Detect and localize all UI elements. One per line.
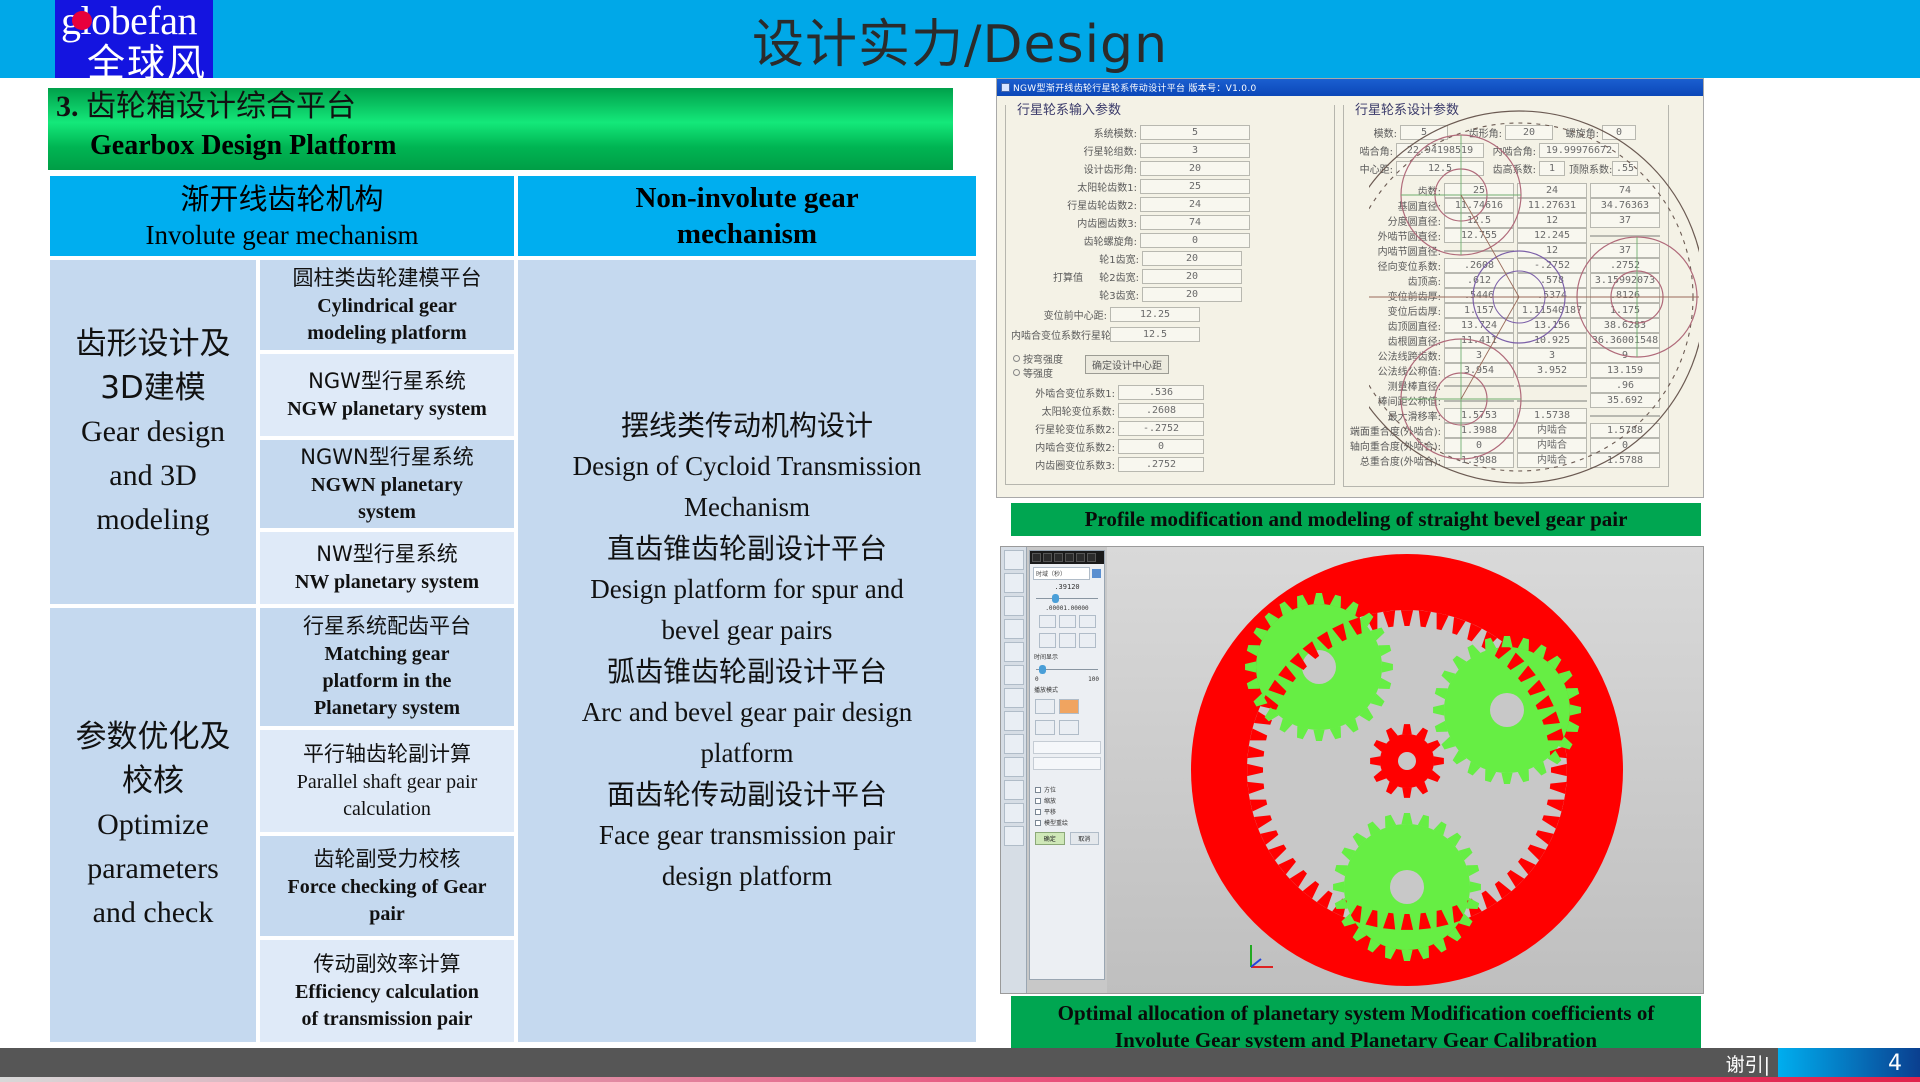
param-label: 设计齿形角: [1037,161,1137,176]
tool-analysis-icon[interactable] [1004,803,1024,823]
cad-panel-header[interactable] [1030,551,1104,564]
matrix-header-noninvolute: Non-involute gear mechanism [516,174,978,258]
noninvolute-line-5: bevel gear pairs [662,610,833,651]
radio-label: 等强度 [1023,365,1053,380]
cad-checkbox-zoom[interactable]: 缩放 [1030,795,1104,806]
param-label: 内啮合变位系数行星轮: [1011,327,1107,342]
item2-cn: NGWN型行星系统 [300,443,473,472]
param-value: -.2752 [1118,421,1204,436]
group1-cn-line1: 齿形设计及 [76,322,231,366]
pan-icon[interactable] [1079,633,1096,648]
reverse-icon[interactable] [1059,720,1079,735]
param-value: .2752 [1118,457,1204,472]
group2-cn-line1: 参数优化及 [76,715,231,759]
matrix-item-ngw[interactable]: NGW型行星系统 NGW planetary system [258,352,516,438]
matrix-item-efficiency[interactable]: 传动副效率计算 Efficiency calculation of transm… [258,938,516,1044]
param-value: 0 [1140,233,1250,248]
param-value: 12.5 [1110,327,1200,342]
coordinate-axis-icon [1247,941,1277,971]
caption2-line1: Optimal allocation of planetary system M… [1058,1000,1655,1027]
tool-select-icon[interactable] [1004,550,1024,570]
matrix-header-involute-cn: 渐开线齿轮机构 [180,180,383,218]
logo-red-dot-icon [72,11,92,30]
checkbox-label: 方位 [1044,785,1056,794]
param-row[interactable]: 行星轮变位系数2: -.2752 [1011,421,1204,436]
group1-cn-line2: 3D建模 [100,366,206,410]
param-label: 轮3齿宽: [1077,287,1139,302]
group2-en-line2: parameters [87,847,219,891]
matrix-noninvolute-body: 摆线类传动机构设计 Design of Cycloid Transmission… [516,258,978,1044]
planetary-gear-cad-drawing [1369,99,1699,495]
matrix-item-cylindrical-gear[interactable]: 圆柱类齿轮建模平台 Cylindrical gear modeling plat… [258,258,516,352]
section-title-en: Gearbox Design Platform [56,126,953,166]
item4-cn: 行星系统配齿平台 [303,612,471,641]
slide-footer: 谢引| 4 [0,1040,1920,1082]
footer-accent-bar [0,1077,1920,1082]
tool-assembly-icon[interactable] [1004,757,1024,777]
param-value: .2608 [1118,403,1204,418]
group2-cn-line2: 校核 [122,759,184,803]
item5-cn: 平行轴齿轮副计算 [303,740,471,769]
param-row[interactable]: 太阳轮变位系数: .2608 [1011,403,1204,418]
item2-en1: NGWN planetary [311,472,463,499]
param-label: 行星轮变位系数2: [1011,421,1115,436]
tool-line-icon[interactable] [1004,573,1024,593]
noninvolute-line-0: 摆线类传动机构设计 [621,405,873,446]
section-number: 3. [56,90,79,123]
param-value: 20 [1140,161,1250,176]
param-group-width-label: 打算值 [1023,269,1083,284]
cad-dialog-buttons[interactable]: 确定 取消 [1030,828,1104,849]
group1-en-line1: Gear design [81,410,225,454]
param-label: 太阳轮齿数1: [1037,179,1137,194]
param-value: .536 [1118,385,1204,400]
noninvolute-line-4: Design platform for spur and [590,569,903,610]
section-title-bar: 3. 齿轮箱设计综合平台 Gearbox Design Platform [48,88,953,170]
chevron-down-icon[interactable] [1092,569,1101,578]
window-title-text: NGW型渐开线齿轮行星轮系传动设计平台 版本号：V1.0.0 [1013,81,1257,94]
tool-extrude-icon[interactable] [1004,619,1024,639]
radio-label: 按弯强度 [1023,351,1063,366]
item6-en1: Force checking of Gear [287,874,486,901]
param-row[interactable]: 齿轮螺旋角: 0 [1037,233,1250,248]
radio-equal-strength[interactable]: 等强度 [1013,365,1053,380]
item7-cn: 传动副效率计算 [314,950,461,979]
radio-icon [1013,355,1020,362]
header-band: 设计实力/Design globefan 全球风 [0,0,1920,78]
skip-end-icon[interactable] [1079,615,1096,628]
cad-disabled-field-2 [1033,757,1101,770]
param-row[interactable]: 内啮合变位系数行星轮: 12.5 [1011,327,1200,342]
matrix-item-matching-gear[interactable]: 行星系统配齿平台 Matching gear platform in the P… [258,606,516,728]
section-heading-cn: 3. 齿轮箱设计综合平台 [56,88,953,126]
item0-cn: 圆柱类齿轮建模平台 [293,264,482,293]
cad-checkbox-redraw[interactable]: 模型重绘 [1030,817,1104,828]
item6-en2: pair [369,901,405,928]
matrix-header-noninvolute-line2: mechanism [677,216,817,252]
group1-en-line2: and 3D [109,454,196,498]
cad-playmode-buttons[interactable] [1030,696,1104,717]
param-label: 内齿圈变位系数3: [1011,457,1115,472]
group2-en-line3: and check [93,891,214,935]
item6-cn: 齿轮副受力校核 [314,845,461,874]
cad-slider-range: 0 100 [1030,676,1104,683]
item5-en2: calculation [343,796,431,823]
slide-root: 设计实力/Design globefan 全球风 3. 齿轮箱设计综合平台 Ge… [0,0,1920,1082]
cad-view-controls[interactable] [1030,631,1104,650]
logo-bottom-text: 全球风 [87,32,207,78]
checkbox-icon[interactable] [1035,820,1041,826]
checkbox-icon[interactable] [1035,809,1041,815]
section-title-cn: 齿轮箱设计综合平台 [86,89,356,124]
slider-max: 100 [1088,676,1099,683]
page-title: 设计实力/Design [0,0,1920,78]
tool-pattern-icon[interactable] [1004,711,1024,731]
forward-icon[interactable] [1035,720,1055,735]
cursor-icon[interactable] [1043,553,1052,562]
checkbox-icon[interactable] [1035,787,1041,793]
noninvolute-line-6: 弧齿锥齿轮副设计平台 [607,651,887,692]
tool-render-icon[interactable] [1004,780,1024,800]
cad-left-toolbar[interactable] [1001,547,1027,993]
param-row[interactable]: 轮3齿宽: 20 [1077,287,1242,302]
tool-measure-icon[interactable] [1004,596,1024,616]
matrix-header-noninvolute-line1: Non-involute gear [635,180,858,216]
param-row[interactable]: 内齿圈齿数3: 74 [1037,215,1250,230]
item0-en2: modeling platform [307,320,466,347]
item7-en2: of transmission pair [301,1006,472,1033]
param-row[interactable]: 轮2齿宽: 20 [1077,269,1242,284]
param-value: 5 [1140,125,1250,140]
item7-en1: Efficiency calculation [295,979,479,1006]
item2-en2: system [358,499,416,526]
param-value: 20 [1142,251,1242,266]
matrix-item-ngwn[interactable]: NGWN型行星系统 NGWN planetary system [258,438,516,530]
radio-icon [1013,369,1020,376]
param-row[interactable]: 轮1齿宽: 20 [1077,251,1242,266]
matrix-item-nw[interactable]: NW型行星系统 NW planetary system [258,530,516,606]
param-label: 轮1齿宽: [1077,251,1139,266]
play-icon[interactable] [1039,615,1056,628]
noninvolute-line-8: platform [701,733,794,774]
checkbox-label: 缩放 [1044,796,1056,805]
screenshot-planetary-gear-cad: 时域（秒） .39120 .00001.00000 时间显示 [1000,546,1704,994]
item4-en1: Matching gear [325,641,450,668]
item4-en3: Planetary system [314,695,460,722]
tool-mirror-icon[interactable] [1004,734,1024,754]
param-row[interactable]: 系统模数: 5 [1037,125,1250,140]
cad-options-label [1030,773,1104,784]
param-label: 齿轮螺旋角: [1037,233,1137,248]
zoom-icon[interactable] [1059,633,1076,648]
cad-disabled-field-1 [1033,741,1101,754]
param-label: 内啮合变位系数2: [1011,439,1115,454]
cad-units-row[interactable]: 时域（秒） [1030,564,1104,583]
item1-en1: NGW planetary system [287,396,487,423]
loop-icon[interactable] [1035,699,1055,714]
close-icon[interactable] [1076,553,1085,562]
tool-sweep-icon[interactable] [1004,665,1024,685]
param-row[interactable]: 内齿圈变位系数3: .2752 [1011,457,1204,472]
param-label: 打算值 [1023,269,1083,284]
ok-button[interactable]: 确定 [1035,832,1065,845]
cad-units-value: 时域（秒） [1033,567,1090,580]
param-row[interactable]: 太阳轮齿数1: 25 [1037,179,1250,194]
prev-icon[interactable] [1032,553,1041,562]
screenshot-ngw-design-platform: NGW型渐开线齿轮行星轮系传动设计平台 版本号：V1.0.0 行星轮系输入参数 … [996,78,1704,498]
noninvolute-line-9: 面齿轮传动副设计平台 [607,774,887,815]
window-titlebar: NGW型渐开线齿轮行星轮系传动设计平台 版本号：V1.0.0 [997,79,1703,96]
radio-bending-strength[interactable]: 按弯强度 [1013,351,1063,366]
item1-cn: NGW型行星系统 [308,367,466,396]
item3-cn: NW型行星系统 [316,540,457,569]
item3-en1: NW planetary system [295,569,479,596]
item4-en2: platform in the [323,668,452,695]
checkbox-icon[interactable] [1035,798,1041,804]
noninvolute-line-11: design platform [662,856,832,897]
param-row[interactable]: 变位前中心距: 12.25 [1011,307,1200,322]
param-value: 20 [1142,269,1242,284]
param-label: 太阳轮变位系数: [1011,403,1115,418]
cad-range-value: .00001.00000 [1030,605,1104,612]
noninvolute-line-7: Arc and bevel gear pair design [582,692,913,733]
checkbox-label: 平移 [1044,807,1056,816]
param-value: 0 [1118,439,1204,454]
matrix-header-involute-en: Involute gear mechanism [146,218,419,252]
confirm-center-distance-button[interactable]: 确定设计中心距 [1085,355,1169,374]
cad-display-label: 时间显示 [1030,650,1104,663]
planetary-gear-render [1107,547,1704,993]
gearbox-platform-matrix: 渐开线齿轮机构 Involute gear mechanism Non-invo… [48,174,978,1044]
item5-en1: Parallel shaft gear pair [297,769,477,796]
group-input-params-title: 行星轮系输入参数 [1013,99,1125,118]
matrix-item-parallel-shaft[interactable]: 平行轴齿轮副计算 Parallel shaft gear pair calcul… [258,728,516,834]
cad-playmode-label: 播放模式 [1030,683,1104,696]
matrix-item-force-checking[interactable]: 齿轮副受力校核 Force checking of Gear pair [258,834,516,938]
tool-view-icon[interactable] [1004,826,1024,846]
param-label: 系统模数: [1037,125,1137,140]
cad-animation-panel[interactable]: 时域（秒） .39120 .00001.00000 时间显示 [1029,550,1105,980]
item0-en1: Cylindrical gear [317,293,456,320]
param-label: 外啮合变位系数1: [1011,385,1115,400]
param-row[interactable]: 行星轮组数: 3 [1037,143,1250,158]
group1-en-line3: modeling [96,498,209,542]
group2-en-line1: Optimize [97,803,209,847]
cad-checkbox-orientation[interactable]: 方位 [1030,784,1104,795]
param-label: 变位前中心距: [1011,307,1107,322]
cad-checkbox-pan[interactable]: 平移 [1030,806,1104,817]
noninvolute-line-2: Mechanism [684,487,810,528]
cad-speed-slider[interactable] [1036,664,1098,675]
param-label: 轮2齿宽: [1077,269,1139,284]
matrix-header-involute: 渐开线齿轮机构 Involute gear mechanism [48,174,516,258]
param-value: 74 [1140,215,1250,230]
checkbox-label: 模型重绘 [1044,818,1068,827]
rotate-icon[interactable] [1039,633,1056,648]
param-row[interactable]: 行星齿轮齿数2: 24 [1025,197,1250,212]
step-forward-icon[interactable] [1059,615,1076,628]
next-icon[interactable] [1087,553,1096,562]
param-row[interactable]: 设计齿形角: 20 [1037,161,1250,176]
button-label: 确定设计中心距 [1092,357,1162,372]
param-label: 行星轮组数: [1037,143,1137,158]
cad-viewport[interactable] [1107,547,1703,993]
param-value: 20 [1142,287,1242,302]
caption-profile-modification: Profile modification and modeling of str… [1011,503,1701,536]
noninvolute-line-1: Design of Cycloid Transmission [573,446,922,487]
cancel-button[interactable]: 取消 [1070,832,1100,845]
param-row[interactable]: 内啮合变位系数2: 0 [1011,439,1204,454]
refresh-icon[interactable] [1065,553,1074,562]
param-label: 内齿圈齿数3: [1037,215,1137,230]
matrix-group-optimize: 参数优化及 校核 Optimize parameters and check [48,606,258,1044]
param-value: 25 [1140,179,1250,194]
brand-logo: globefan 全球风 [55,0,213,78]
footer-note: 谢引| [0,1048,1778,1078]
cad-time-value: .39120 [1030,583,1104,591]
cad-playback-controls[interactable] [1030,612,1104,631]
home-icon[interactable] [1054,553,1063,562]
tool-blend-icon[interactable] [1004,688,1024,708]
window-icon [1001,83,1010,92]
param-value: 3 [1140,143,1250,158]
param-label: 行星齿轮齿数2: [1025,197,1137,212]
bounce-icon[interactable] [1059,699,1079,714]
noninvolute-line-3: 直齿锥齿轮副设计平台 [607,528,887,569]
param-value: 12.25 [1110,307,1200,322]
page-number: 4 [1778,1048,1920,1078]
cad-time-slider[interactable] [1036,593,1098,603]
matrix-group-gear-design: 齿形设计及 3D建模 Gear design and 3D modeling [48,258,258,606]
cad-direction-buttons[interactable] [1030,717,1104,738]
tool-revolve-icon[interactable] [1004,642,1024,662]
param-value: 24 [1140,197,1250,212]
slider-min: 0 [1035,676,1039,683]
noninvolute-line-10: Face gear transmission pair [599,815,895,856]
param-row[interactable]: 外啮合变位系数1: .536 [1011,385,1204,400]
